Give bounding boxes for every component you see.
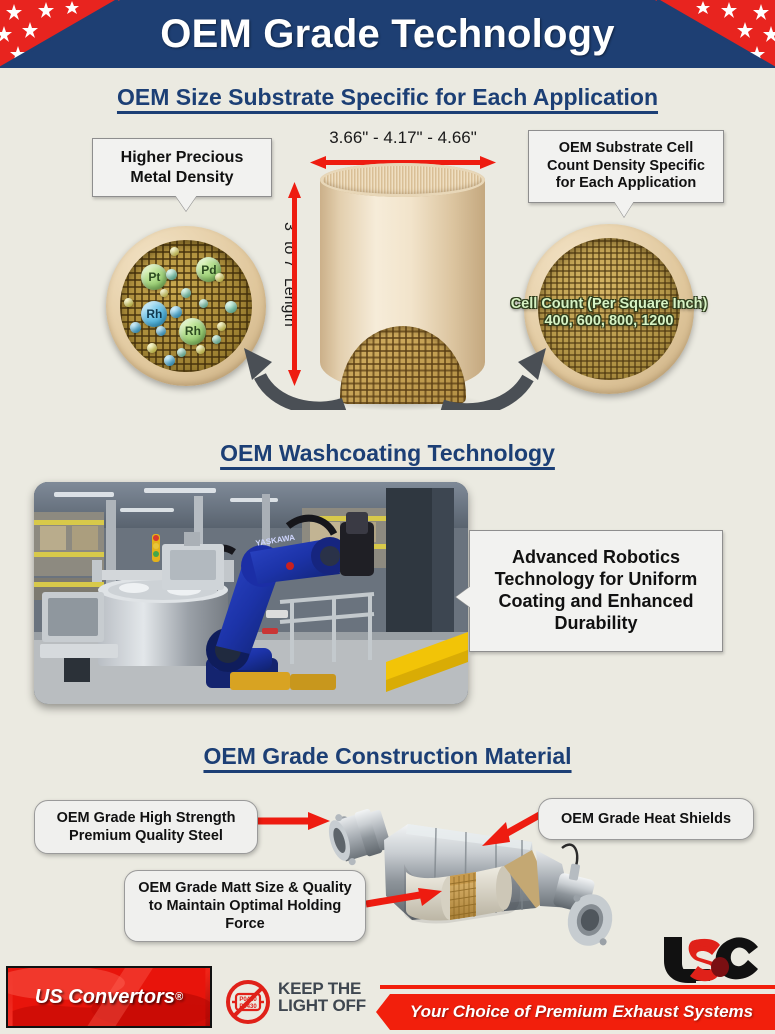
metal-particle <box>130 322 141 333</box>
section-heading-substrate: OEM Size Substrate Specific for Each App… <box>0 84 775 111</box>
metal-particle <box>217 322 226 331</box>
callout-tail-left-icon <box>456 586 471 608</box>
curved-arrow-left-icon <box>240 330 350 410</box>
metal-particle <box>166 269 177 280</box>
callout-tail-down-icon <box>175 195 197 211</box>
metal-particle <box>215 273 224 282</box>
callout-high-strength-steel-text: OEM Grade High Strength Premium Quality … <box>57 810 236 844</box>
arrow-to-matt-icon <box>366 888 442 910</box>
metal-particle <box>170 306 182 318</box>
keep-the-light-off-text: KEEP THE LIGHT OFF <box>278 980 366 1015</box>
curved-arrow-right-icon <box>434 330 550 410</box>
footer-accent-line <box>380 985 775 989</box>
metal-particle <box>196 345 205 354</box>
metal-particle <box>147 343 157 353</box>
metal-particle <box>225 301 237 313</box>
us-convertors-brand: US Convertors® <box>8 968 210 1026</box>
us-convertors-logo-box: US Convertors® <box>6 966 212 1028</box>
callout-tail-down-icon <box>614 201 634 217</box>
cell-count-values: 400, 600, 800, 1200 <box>496 313 722 330</box>
brand-name: US Convertors <box>35 986 175 1009</box>
callout-matt-size-quality: OEM Grade Matt Size & Quality to Maintai… <box>124 870 366 942</box>
metal-particle <box>177 348 186 357</box>
metal-particle <box>212 335 221 344</box>
footer-tagline-banner: Your Choice of Premium Exhaust Systems <box>376 994 775 1030</box>
callout-matt-size-quality-text: OEM Grade Matt Size & Quality to Maintai… <box>138 880 352 932</box>
section-heading-construction: OEM Grade Construction Material <box>0 743 775 770</box>
keep-line-1: KEEP THE <box>278 980 366 997</box>
callout-cell-count-density-text: OEM Substrate Cell Count Density Specifi… <box>547 140 705 191</box>
metal-particle <box>170 247 179 256</box>
washcoating-robot-photo: YASKAWA <box>34 482 468 704</box>
metal-particle <box>199 299 208 308</box>
callout-higher-precious-metal-density: Higher Precious Metal Density <box>92 138 272 197</box>
metal-sphere-rh-blue: Rh <box>141 301 167 327</box>
metal-sphere-rh-green: Rh <box>179 318 206 345</box>
metal-particle <box>124 298 133 307</box>
callout-advanced-robotics: Advanced Robotics Technology for Uniform… <box>469 530 723 652</box>
honeycomb-mesh-left: Pt Pd Rh Rh <box>120 240 251 371</box>
page-title: OEM Grade Technology <box>0 0 775 68</box>
callout-advanced-robotics-text: Advanced Robotics Technology for Uniform… <box>495 547 698 633</box>
substrate-diameter-label: 3.66" - 4.17" - 4.66" <box>306 128 500 148</box>
callout-cell-count-density: OEM Substrate Cell Count Density Specifi… <box>528 130 724 203</box>
metal-particle <box>181 288 191 298</box>
cell-count-overlay-text: Cell Count (Per Square Inch) 400, 600, 8… <box>496 296 722 331</box>
footer-tagline-text: Your Choice of Premium Exhaust Systems <box>398 1002 753 1022</box>
callout-high-strength-steel: OEM Grade High Strength Premium Quality … <box>34 800 258 854</box>
section-heading-washcoating: OEM Washcoating Technology <box>0 440 775 467</box>
factory-robot-scene: YASKAWA <box>34 482 468 704</box>
metal-sphere-pt: Pt <box>141 264 167 290</box>
usc-logo-icon <box>658 933 763 983</box>
callout-heat-shields-text: OEM Grade Heat Shields <box>561 811 731 827</box>
callout-higher-precious-metal-density-text: Higher Precious Metal Density <box>121 149 244 186</box>
header-banner: OEM Grade Technology <box>0 0 775 68</box>
keep-line-2: LIGHT OFF <box>278 997 366 1014</box>
callout-heat-shields: OEM Grade Heat Shields <box>538 798 754 840</box>
cylinder-top-honeycomb-face <box>320 163 485 197</box>
registered-mark: ® <box>175 991 183 1003</box>
arrow-to-steel-icon <box>258 812 330 830</box>
infographic-page: OEM Grade Technology OEM Size Substrate … <box>0 0 775 1034</box>
metal-particle <box>164 355 175 366</box>
metal-particle <box>160 289 168 297</box>
metal-particle <box>156 326 166 336</box>
cell-count-title: Cell Count (Per Square Inch) <box>496 296 722 313</box>
